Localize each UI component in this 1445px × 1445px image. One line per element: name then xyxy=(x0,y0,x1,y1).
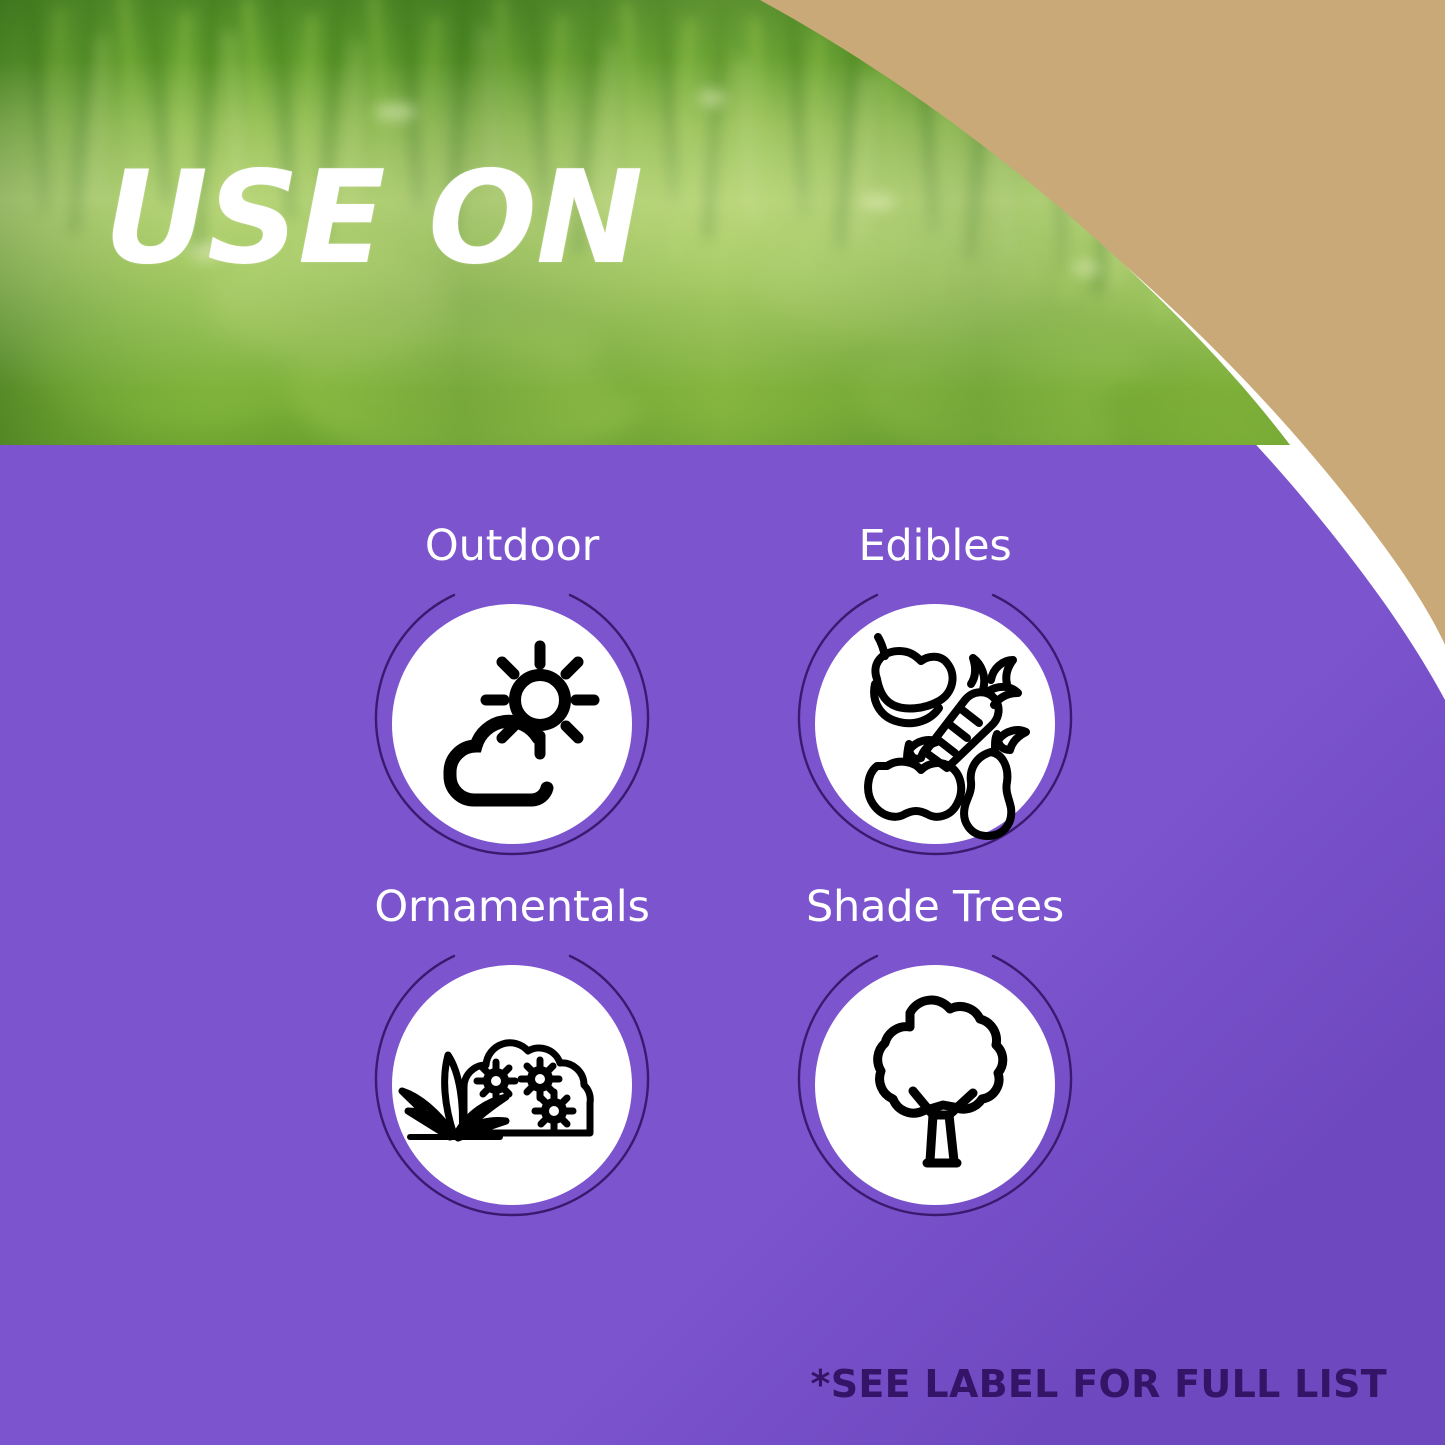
icon-badge xyxy=(793,582,1077,866)
use-on-item-edibles[interactable]: Edibles xyxy=(785,525,1085,866)
use-on-icon-grid: Outdoor xyxy=(0,0,1445,1445)
icon-badge xyxy=(370,943,654,1227)
use-on-item-label: Outdoor xyxy=(362,525,662,568)
use-on-item-outdoor[interactable]: Outdoor xyxy=(362,525,662,866)
fruits-and-vegetables-icon xyxy=(815,604,1055,844)
flowering-shrub-icon xyxy=(392,965,632,1205)
use-on-item-label: Shade Trees xyxy=(785,886,1085,929)
icon-badge xyxy=(793,943,1077,1227)
icon-badge xyxy=(370,582,654,866)
use-on-infographic: USE ON Outdoor xyxy=(0,0,1445,1445)
use-on-item-shade-trees[interactable]: Shade Trees xyxy=(785,886,1085,1227)
footnote-see-label: *SEE LABEL FOR FULL LIST xyxy=(811,1365,1387,1403)
use-on-item-label: Edibles xyxy=(785,525,1085,568)
use-on-item-ornamentals[interactable]: Ornamentals xyxy=(362,886,662,1227)
shade-tree-icon xyxy=(815,965,1055,1205)
sun-behind-cloud-icon xyxy=(392,604,632,844)
use-on-item-label: Ornamentals xyxy=(362,886,662,929)
